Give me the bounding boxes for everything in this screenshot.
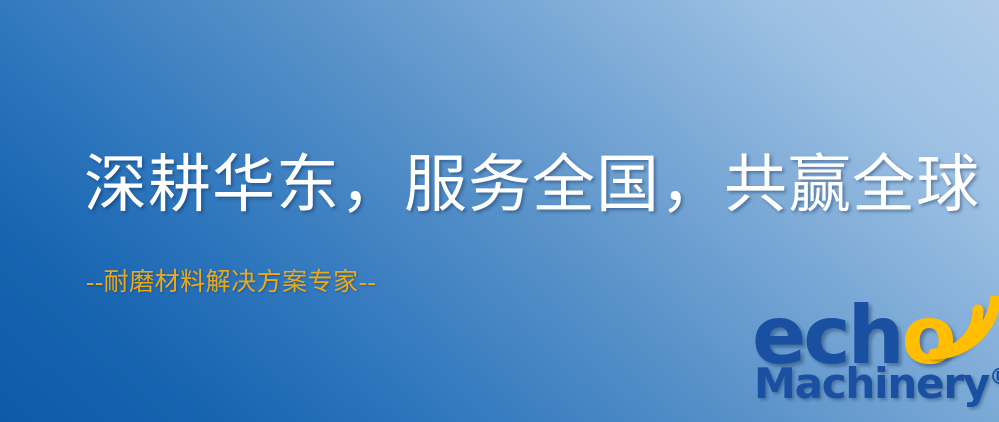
company-logo: echo Machinery® [748,296,999,422]
banner-headline: 深耕华东，服务全国，共赢全球 [84,152,980,218]
logo-subtext: Machinery® [754,363,999,405]
banner-subtitle: --耐磨材料解决方案专家-- [86,268,376,298]
registered-trademark-icon: ® [989,365,999,390]
promo-banner: 深耕华东，服务全国，共赢全球 --耐磨材料解决方案专家-- echo Machi… [0,0,999,422]
logo-subtext-label: Machinery [754,359,989,408]
